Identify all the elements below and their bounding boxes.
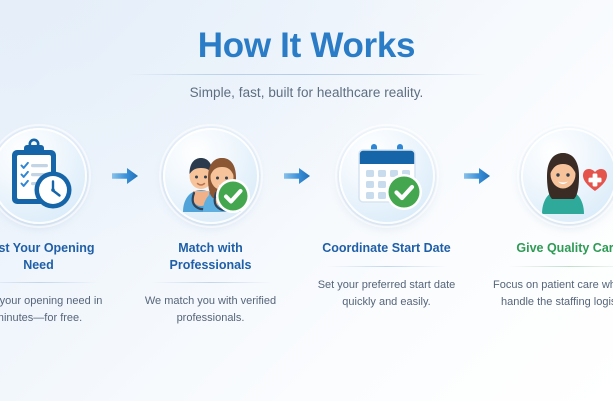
clipboard-clock-icon (0, 128, 87, 224)
step-3-medallion (339, 128, 435, 224)
step-2-description: We match you with verified professionals… (141, 283, 281, 327)
step-1-title: Post Your Opening Need (0, 224, 106, 273)
connector-arrow-2 (281, 128, 313, 224)
step-2-title: Match with Professionals (144, 224, 278, 273)
arrow-right-icon (464, 168, 490, 184)
step-4-description: Focus on patient care while we handle th… (493, 267, 613, 311)
step-3-title: Coordinate Start Date (320, 224, 454, 257)
calendar-check-icon (339, 128, 435, 224)
header: How It Works Simple, fast, built for hea… (0, 0, 613, 100)
page-title: How It Works (0, 0, 613, 66)
step-2-medallion (163, 128, 259, 224)
step-coordinate-start-date: Coordinate Start Date Set your preferred… (313, 128, 461, 311)
step-3-description: Set your preferred start date quickly an… (313, 267, 461, 311)
arrow-right-icon (112, 168, 138, 184)
two-healthcare-professionals-check-icon (163, 128, 259, 224)
step-1-medallion (0, 128, 87, 224)
connector-arrow-3 (461, 128, 493, 224)
step-4-title: Give Quality Care (502, 224, 613, 257)
step-give-quality-care: Give Quality Care Focus on patient care … (493, 128, 613, 311)
steps-row: Post Your Opening Need Post your opening… (0, 128, 613, 327)
how-it-works-infographic: How It Works Simple, fast, built for hea… (0, 0, 613, 401)
step-match-with-professionals: Match with Professionals We match you wi… (141, 128, 281, 327)
nurse-heart-cross-icon (521, 128, 613, 224)
page-subtitle: Simple, fast, built for healthcare reali… (0, 75, 613, 100)
step-1-description: Post your opening need in minutes—for fr… (0, 283, 109, 327)
step-post-your-opening-need: Post Your Opening Need Post your opening… (0, 128, 109, 327)
step-4-medallion (521, 128, 613, 224)
connector-arrow-1 (109, 128, 141, 224)
arrow-right-icon (284, 168, 310, 184)
